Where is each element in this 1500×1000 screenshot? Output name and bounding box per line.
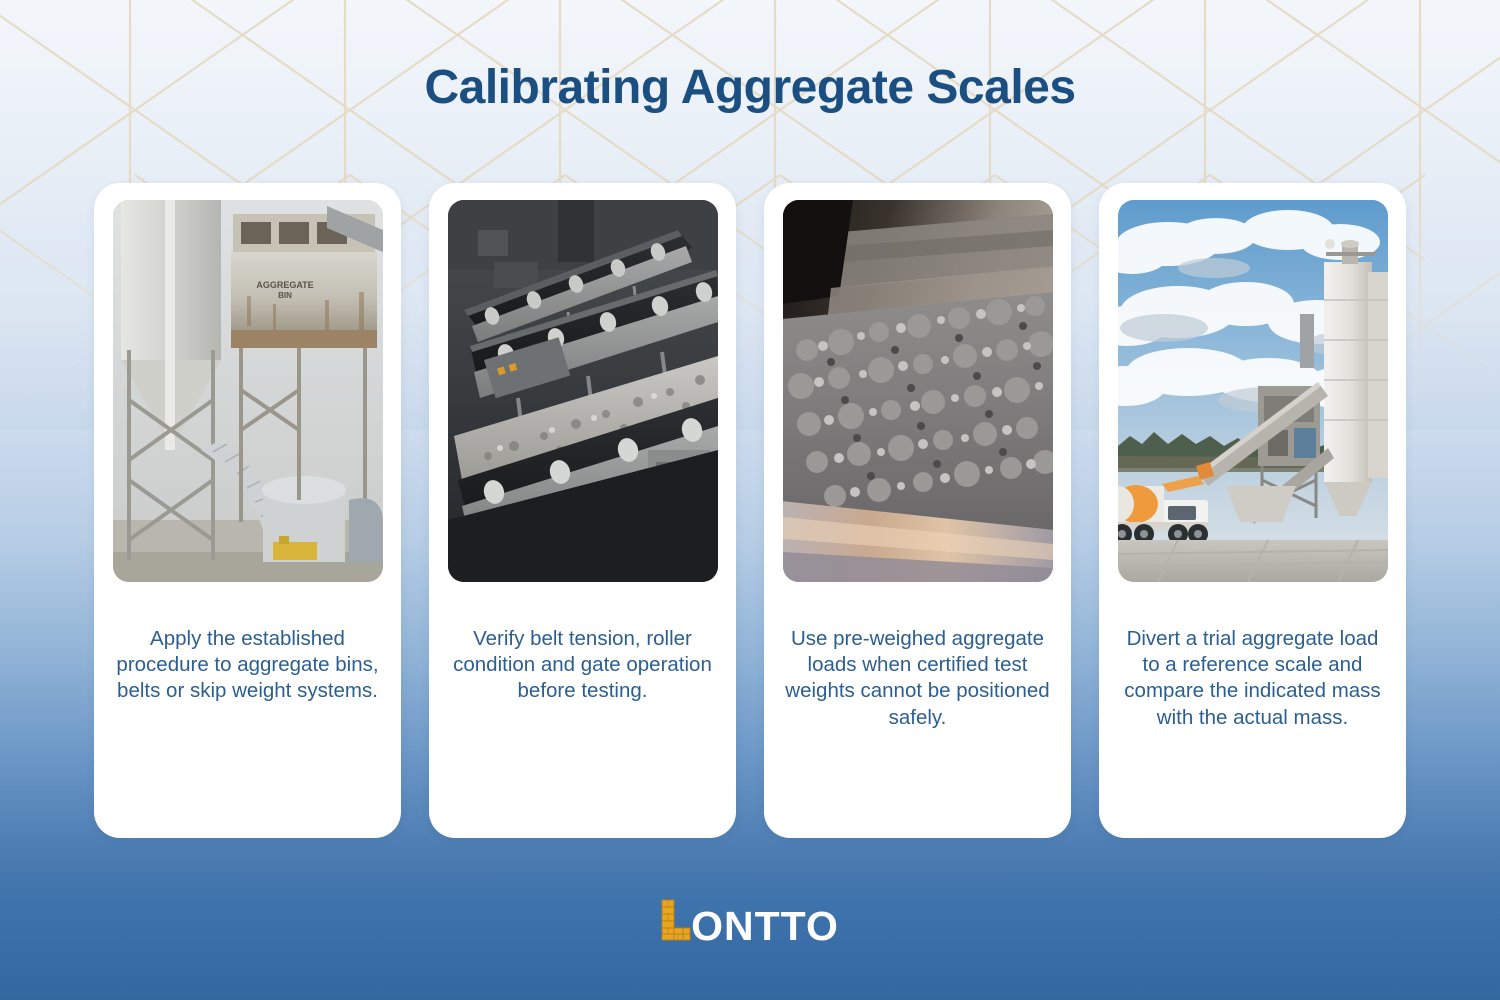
svg-text:BIN: BIN bbox=[278, 291, 292, 300]
crushed-stone-closeup-photo bbox=[783, 200, 1053, 582]
aggregate-bin-silo-photo: AGGREGATE BIN bbox=[113, 200, 383, 582]
footer: ONTTO bbox=[0, 899, 1500, 946]
svg-text:AGGREGATE: AGGREGATE bbox=[256, 280, 313, 290]
card-1[interactable]: AGGREGATE BIN bbox=[94, 183, 401, 838]
lontto-logo[interactable]: ONTTO bbox=[661, 899, 839, 946]
card-4-text: Divert a trial aggregate load to a refer… bbox=[1119, 626, 1387, 731]
card-3-text: Use pre-weighed aggregate loads when cer… bbox=[784, 626, 1052, 731]
card-1-text: Apply the established procedure to aggre… bbox=[114, 626, 382, 705]
card-2[interactable]: M8K3 796 bbox=[429, 183, 736, 838]
page-title: Calibrating Aggregate Scales bbox=[0, 60, 1500, 115]
conveyor-belt-aggregate-photo: M8K3 796 bbox=[448, 200, 718, 582]
card-row: AGGREGATE BIN bbox=[94, 183, 1406, 838]
lontto-brick-l-icon bbox=[661, 899, 691, 946]
batching-plant-mixer-truck-photo bbox=[1118, 200, 1388, 582]
infographic-poster: Calibrating Aggregate Scales bbox=[0, 0, 1500, 1000]
card-4[interactable]: Divert a trial aggregate load to a refer… bbox=[1099, 183, 1406, 838]
lontto-wordmark: ONTTO bbox=[691, 907, 839, 946]
card-3[interactable]: Use pre-weighed aggregate loads when cer… bbox=[764, 183, 1071, 838]
card-2-text: Verify belt tension, roller condition an… bbox=[449, 626, 717, 705]
